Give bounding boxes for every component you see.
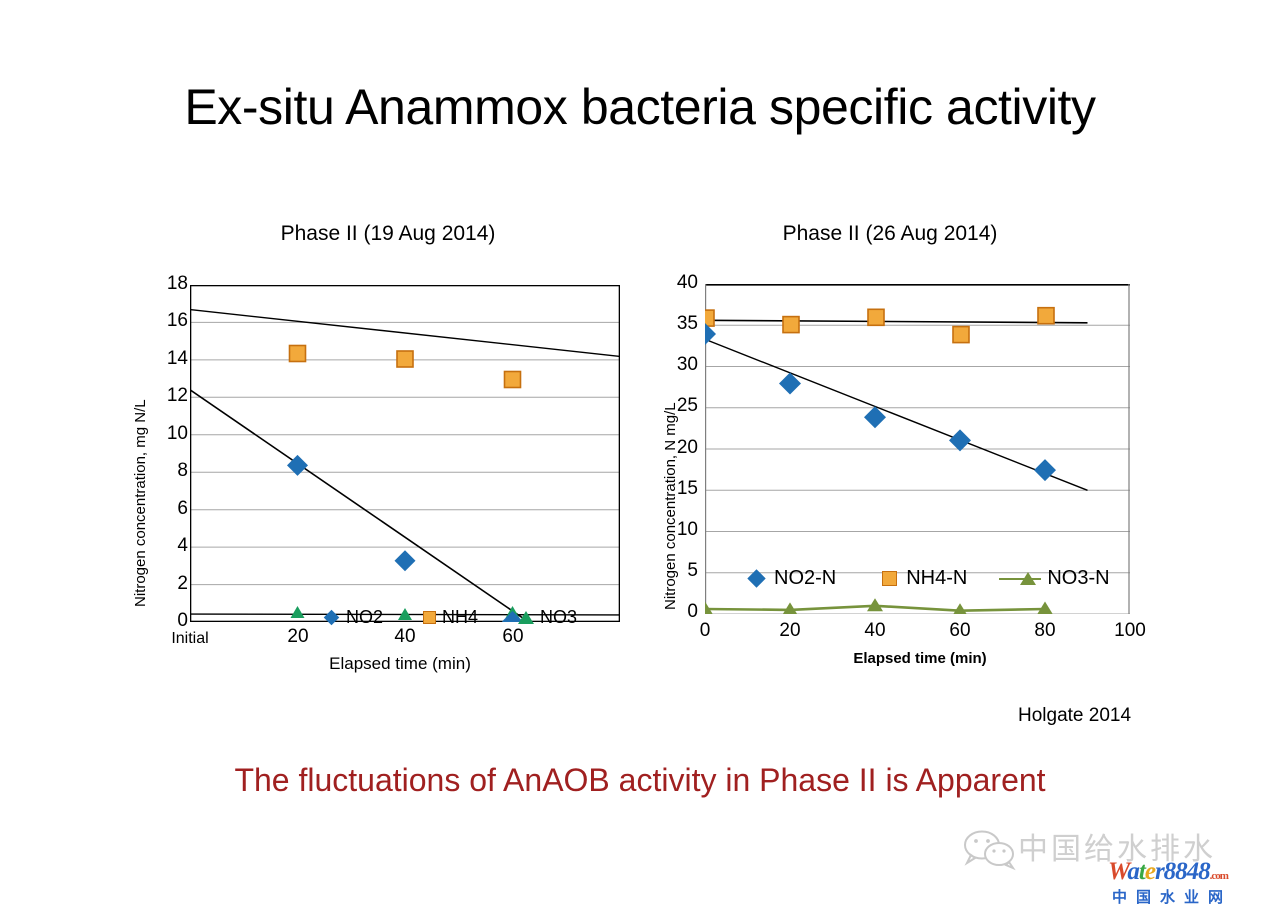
- y-tick-left-0: 0: [136, 610, 188, 632]
- watermark-brand: Water8848.com: [1108, 858, 1228, 886]
- diamond-marker-icon: [747, 569, 765, 587]
- chart-title-left: Phase II (19 Aug 2014): [118, 222, 658, 246]
- legend-label-no2: NO2: [346, 607, 383, 628]
- y-tick-right-40: 40: [650, 272, 698, 294]
- legend-label-no3n: NO3-N: [1047, 567, 1109, 590]
- legend-item-nh4n[interactable]: NH4-N: [882, 567, 967, 590]
- x-tick-right-80: 80: [1015, 620, 1075, 642]
- square-marker-icon: [423, 611, 436, 624]
- x-axis-title-right: Elapsed time (min): [785, 650, 1055, 667]
- x-axis-title-left: Elapsed time (min): [250, 654, 550, 674]
- legend-item-no3n[interactable]: NO3-N: [1013, 567, 1109, 590]
- brand-letter-a: a: [1127, 858, 1139, 885]
- source-credit: Holgate 2014: [1018, 705, 1131, 727]
- y-tick-left-2: 2: [136, 573, 188, 595]
- triangle-line-marker-icon: [1013, 572, 1043, 585]
- trendline-nh4-left: [190, 310, 620, 357]
- brand-letter-r: r: [1155, 858, 1164, 885]
- y-tick-right-25: 25: [650, 395, 698, 417]
- plot-area-left: [190, 285, 620, 622]
- triangle-marker-icon: [1020, 572, 1036, 585]
- conclusion-text: The fluctuations of AnAOB activity in Ph…: [0, 762, 1280, 799]
- square-marker-icon: [882, 571, 897, 586]
- y-tick-left-8: 8: [136, 460, 188, 482]
- chart-title-right: Phase II (26 Aug 2014): [640, 222, 1140, 246]
- brand-dotcom: .com: [1210, 870, 1228, 882]
- plot-area-right: [705, 284, 1130, 614]
- legend-item-nh4[interactable]: NH4: [423, 607, 478, 628]
- legend-label-no2n: NO2-N: [774, 567, 836, 590]
- x-tick-right-60: 60: [930, 620, 990, 642]
- brand-letter-w: W: [1108, 858, 1127, 885]
- trendline-no2-right: [705, 339, 1088, 490]
- x-tick-right-40: 40: [845, 620, 905, 642]
- x-tick-right-20: 20: [760, 620, 820, 642]
- legend-label-nh4n: NH4-N: [906, 567, 967, 590]
- y-tick-left-12: 12: [136, 385, 188, 407]
- y-tick-right-10: 10: [650, 519, 698, 541]
- series-nh4-left: [290, 346, 521, 388]
- diamond-marker-icon: [324, 610, 340, 626]
- chart-panel-left: Phase II (19 Aug 2014) Nitrogen concentr…: [118, 222, 658, 682]
- brand-number: 8848: [1164, 858, 1210, 885]
- chart-panel-right: Phase II (26 Aug 2014) Nitrogen concentr…: [640, 222, 1200, 682]
- x-tick-right-100: 100: [1100, 620, 1160, 642]
- y-tick-right-30: 30: [650, 354, 698, 376]
- page-title: Ex-situ Anammox bacteria specific activi…: [0, 78, 1280, 136]
- trendline-no2-left: [190, 390, 529, 622]
- x-tick-left-initial: Initial: [160, 630, 220, 648]
- legend-right: NO2-N NH4-N NO3-N: [750, 567, 1110, 590]
- wechat-icon: [962, 828, 1018, 874]
- legend-label-no3: NO3: [540, 607, 577, 628]
- triangle-marker-icon: [518, 611, 534, 624]
- y-tick-left-10: 10: [136, 423, 188, 445]
- series-no3-right: [705, 598, 1053, 614]
- y-tick-left-4: 4: [136, 535, 188, 557]
- y-tick-right-5: 5: [650, 560, 698, 582]
- watermark: 中国给水排水 Water8848.com 中国水业网: [960, 822, 1260, 902]
- plot-svg-left: [190, 285, 620, 622]
- x-tick-left-40: 40: [375, 626, 435, 648]
- y-tick-right-15: 15: [650, 478, 698, 500]
- x-tick-left-60: 60: [483, 626, 543, 648]
- y-tick-right-35: 35: [650, 313, 698, 335]
- y-tick-right-20: 20: [650, 437, 698, 459]
- legend-item-no3[interactable]: NO3: [518, 607, 577, 628]
- legend-item-no2n[interactable]: NO2-N: [750, 567, 836, 590]
- y-tick-left-16: 16: [136, 310, 188, 332]
- plot-svg-right: [705, 284, 1130, 614]
- x-tick-right-0: 0: [675, 620, 735, 642]
- trendline-nh4-right: [705, 320, 1088, 323]
- slide-canvas: Ex-situ Anammox bacteria specific activi…: [0, 0, 1280, 904]
- brand-letter-e: e: [1145, 858, 1155, 885]
- legend-item-no2[interactable]: NO2: [326, 607, 383, 628]
- legend-label-nh4: NH4: [442, 607, 478, 628]
- y-tick-left-18: 18: [136, 273, 188, 295]
- x-tick-left-20: 20: [268, 626, 328, 648]
- y-tick-left-6: 6: [136, 498, 188, 520]
- y-tick-left-14: 14: [136, 348, 188, 370]
- legend-left: NO2 NH4 NO3: [326, 607, 577, 628]
